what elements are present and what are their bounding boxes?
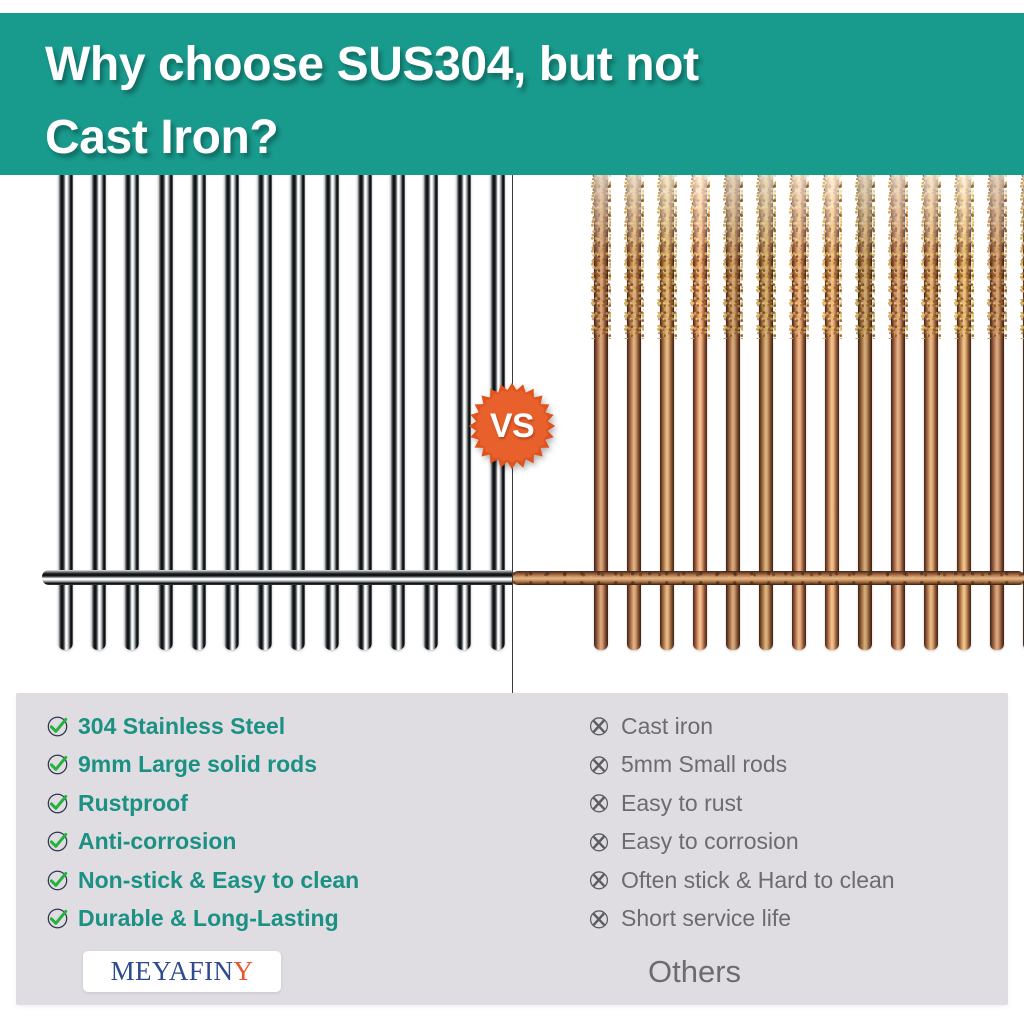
check-circle-icon [46, 830, 69, 853]
list-item: Easy to rust [588, 784, 1024, 823]
brand-logo: MEYAFINY [83, 951, 281, 992]
cons-item-label: Short service life [621, 907, 791, 930]
check-circle-icon [46, 753, 69, 776]
cross-circle-icon [588, 792, 610, 814]
cons-column: Cast iron5mm Small rodsEasy to rustEasy … [588, 693, 1024, 1005]
page-title: Why choose SUS304, but not Cast Iron? [45, 29, 945, 175]
cross-circle-icon [588, 754, 610, 776]
list-item: 304 Stainless Steel [46, 707, 506, 746]
list-item: Cast iron [588, 707, 1024, 746]
pros-item-label: Rustproof [78, 792, 188, 815]
list-item: Durable & Long-Lasting [46, 900, 506, 939]
vs-badge-icon [467, 381, 557, 471]
list-item: Non-stick & Easy to clean [46, 861, 506, 900]
header-banner: Why choose SUS304, but not Cast Iron? [0, 13, 1024, 175]
list-item: Rustproof [46, 784, 506, 823]
product-comparison-infographic: Why choose SUS304, but not Cast Iron? VS… [0, 0, 1024, 1024]
brand-name-main: MEYAFIN [111, 956, 234, 986]
cast-iron-photo [512, 175, 1024, 693]
cons-item-label: Cast iron [621, 715, 713, 738]
check-circle-icon [46, 715, 69, 738]
brand-name-accent: Y [233, 956, 253, 986]
pros-item-label: Anti-corrosion [78, 830, 236, 853]
cross-circle-icon [588, 908, 610, 930]
pros-item-label: 9mm Large solid rods [78, 753, 317, 776]
list-item: 5mm Small rods [588, 746, 1024, 785]
cross-circle-icon [588, 831, 610, 853]
stainless-steel-photo [0, 175, 512, 693]
cons-list: Cast iron5mm Small rodsEasy to rustEasy … [588, 707, 1024, 938]
list-item: Easy to corrosion [588, 823, 1024, 862]
steel-crossbar [42, 570, 512, 585]
list-item: Often stick & Hard to clean [588, 861, 1024, 900]
pros-list: 304 Stainless Steel9mm Large solid rodsR… [46, 707, 506, 938]
cons-item-label: 5mm Small rods [621, 753, 787, 776]
pros-item-label: 304 Stainless Steel [78, 715, 285, 738]
list-item: Short service life [588, 900, 1024, 939]
cons-item-label: Often stick & Hard to clean [621, 869, 895, 892]
rusty-crossbar [512, 571, 1024, 585]
check-circle-icon [46, 869, 69, 892]
pros-item-label: Durable & Long-Lasting [78, 907, 339, 930]
check-circle-icon [46, 792, 69, 815]
brand-name: MEYAFINY [111, 958, 254, 985]
feature-comparison-panel: 304 Stainless Steel9mm Large solid rodsR… [16, 693, 1008, 1005]
pros-item-label: Non-stick & Easy to clean [78, 869, 359, 892]
cross-circle-icon [588, 715, 610, 737]
list-item: 9mm Large solid rods [46, 746, 506, 785]
cross-circle-icon [588, 869, 610, 891]
cons-item-label: Easy to corrosion [621, 830, 799, 853]
check-circle-icon [46, 907, 69, 930]
cons-item-label: Easy to rust [621, 792, 742, 815]
list-item: Anti-corrosion [46, 823, 506, 862]
pros-column: 304 Stainless Steel9mm Large solid rodsR… [46, 693, 506, 1005]
others-label: Others [648, 951, 741, 992]
